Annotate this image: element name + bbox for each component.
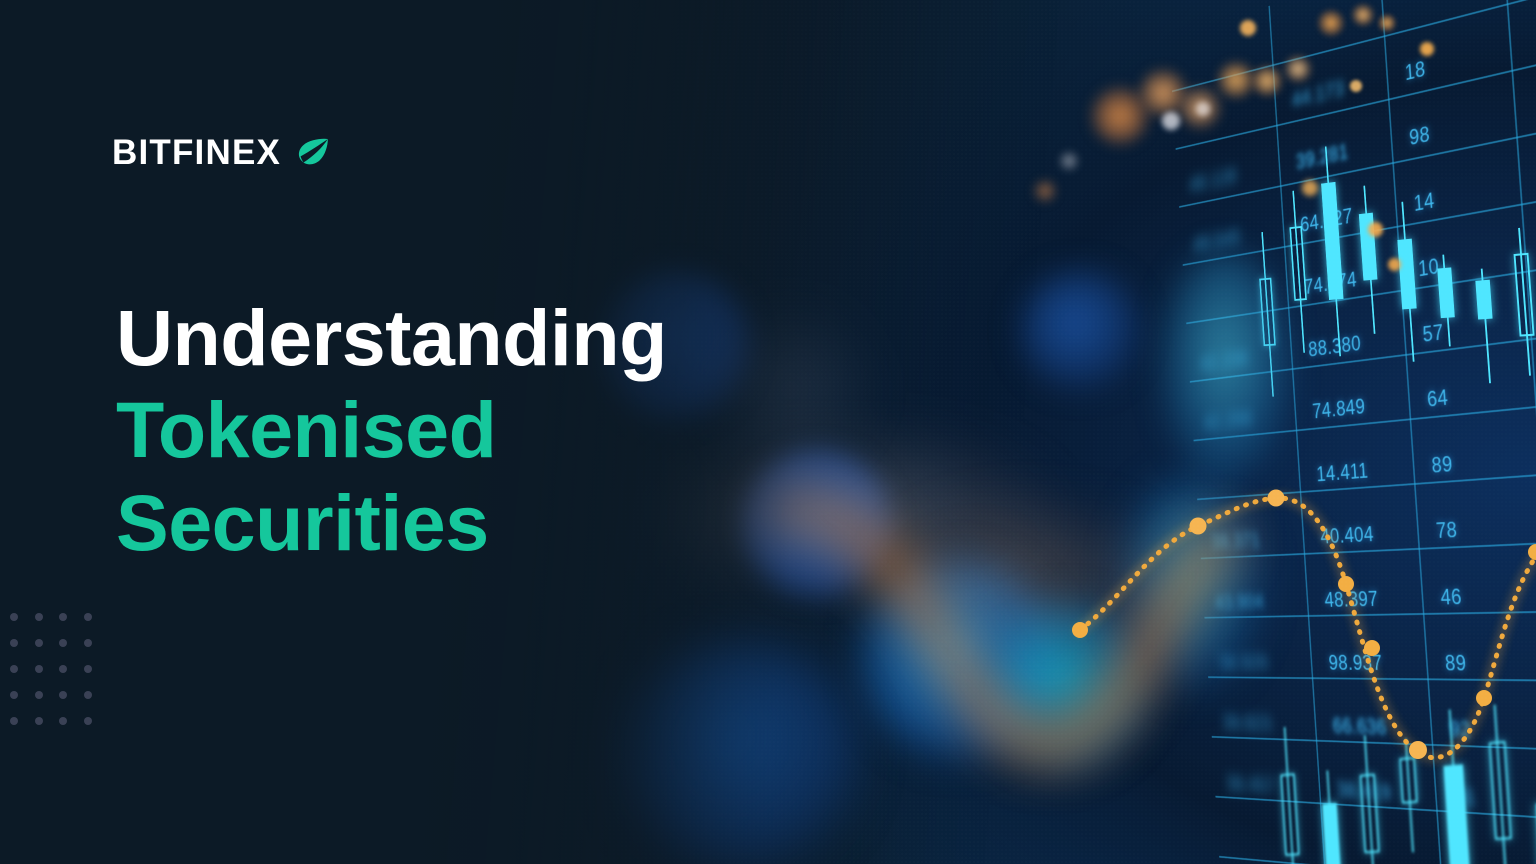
grid-dot [10, 717, 18, 725]
grid-dot [10, 639, 18, 647]
headline-line-2: Tokenised [116, 384, 876, 476]
dot-grid-decoration [2, 604, 100, 734]
headline-line-3: Securities [116, 477, 876, 569]
grid-dot [84, 639, 92, 647]
grid-dot [10, 665, 18, 673]
grid-dot [59, 639, 67, 647]
grid-dot [59, 665, 67, 673]
bitfinex-article-banner: 48.128 49.545 42.236 42.298 38.371 43.90… [0, 0, 1536, 864]
grid-dot [35, 717, 43, 725]
grid-dot [10, 691, 18, 699]
grid-dot [59, 717, 67, 725]
bitfinex-logo[interactable]: BITFINEX [112, 133, 331, 173]
grid-dot [59, 613, 67, 621]
grid-dot [84, 717, 92, 725]
grid-dot [84, 691, 92, 699]
grid-dot [35, 691, 43, 699]
grid-dot [35, 613, 43, 621]
leaf-icon [295, 135, 331, 171]
grid-dot [84, 613, 92, 621]
grid-dot [35, 639, 43, 647]
grid-dot [84, 665, 92, 673]
grid-dot [10, 613, 18, 621]
grid-dot [35, 665, 43, 673]
banner-content: BITFINEX Understanding Tokenised Securit… [0, 0, 1536, 864]
page-title: Understanding Tokenised Securities [116, 292, 876, 569]
headline-line-1: Understanding [116, 292, 876, 384]
bitfinex-wordmark: BITFINEX [112, 133, 281, 173]
grid-dot [59, 691, 67, 699]
